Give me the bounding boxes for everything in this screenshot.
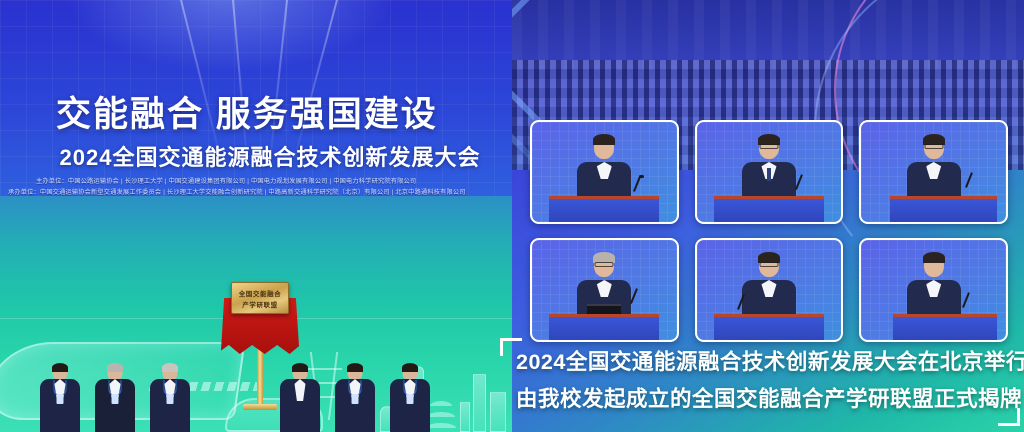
speaker-photo-4[interactable] [530,238,679,342]
speaker-photo-6[interactable] [859,238,1008,342]
speaker-photo-1[interactable] [530,120,679,224]
speaker-photo-grid [530,120,1008,342]
caption-line-1: 2024全国交通能源融合技术创新发展大会在北京举行 [516,345,1024,376]
speaker-photo-5[interactable] [695,238,844,342]
event-title: 交能融合 服务强国建设 [56,86,476,137]
plaque-line-1: 全国交能融合 [239,288,282,298]
bracket-bottom-right-icon [998,408,1020,426]
speaker-photo-3[interactable] [859,120,1008,224]
event-subtitle: 2024全国交通能源融合技术创新发展大会 [50,140,490,172]
plaque-line-2: 产学研联盟 [242,299,278,309]
plaque-stand [257,348,263,408]
unveiling-plaque: 全国交能融合 产学研联盟 [221,274,299,366]
plaque-board: 全国交能融合 产学研联盟 [231,282,289,314]
pagoda-icon [426,398,456,432]
organizers-line-2: 承办单位：中国交通运输协会新型交通发展工作委员会 | 长沙理工大学交能融合创新研… [8,187,466,196]
caption-block: 2024全国交通能源融合技术创新发展大会在北京举行 由我校发起成立的全国交能融合… [496,336,1024,432]
organizers-line-1: 主办单位：中国公路运输协会 | 长沙理工大学 | 中国交通建设集团有限公司 | … [36,176,416,185]
speaker-photo-2[interactable] [695,120,844,224]
poster-canvas: 交能融合 服务强国建设 2024全国交通能源融合技术创新发展大会 主办单位：中国… [0,0,1024,432]
caption-line-2: 由我校发起成立的全国交能融合产学研联盟正式揭牌 [516,382,1022,413]
ceremony-photo: 交能融合 服务强国建设 2024全国交通能源融合技术创新发展大会 主办单位：中国… [0,0,512,432]
plaque-stand-base [243,404,277,410]
